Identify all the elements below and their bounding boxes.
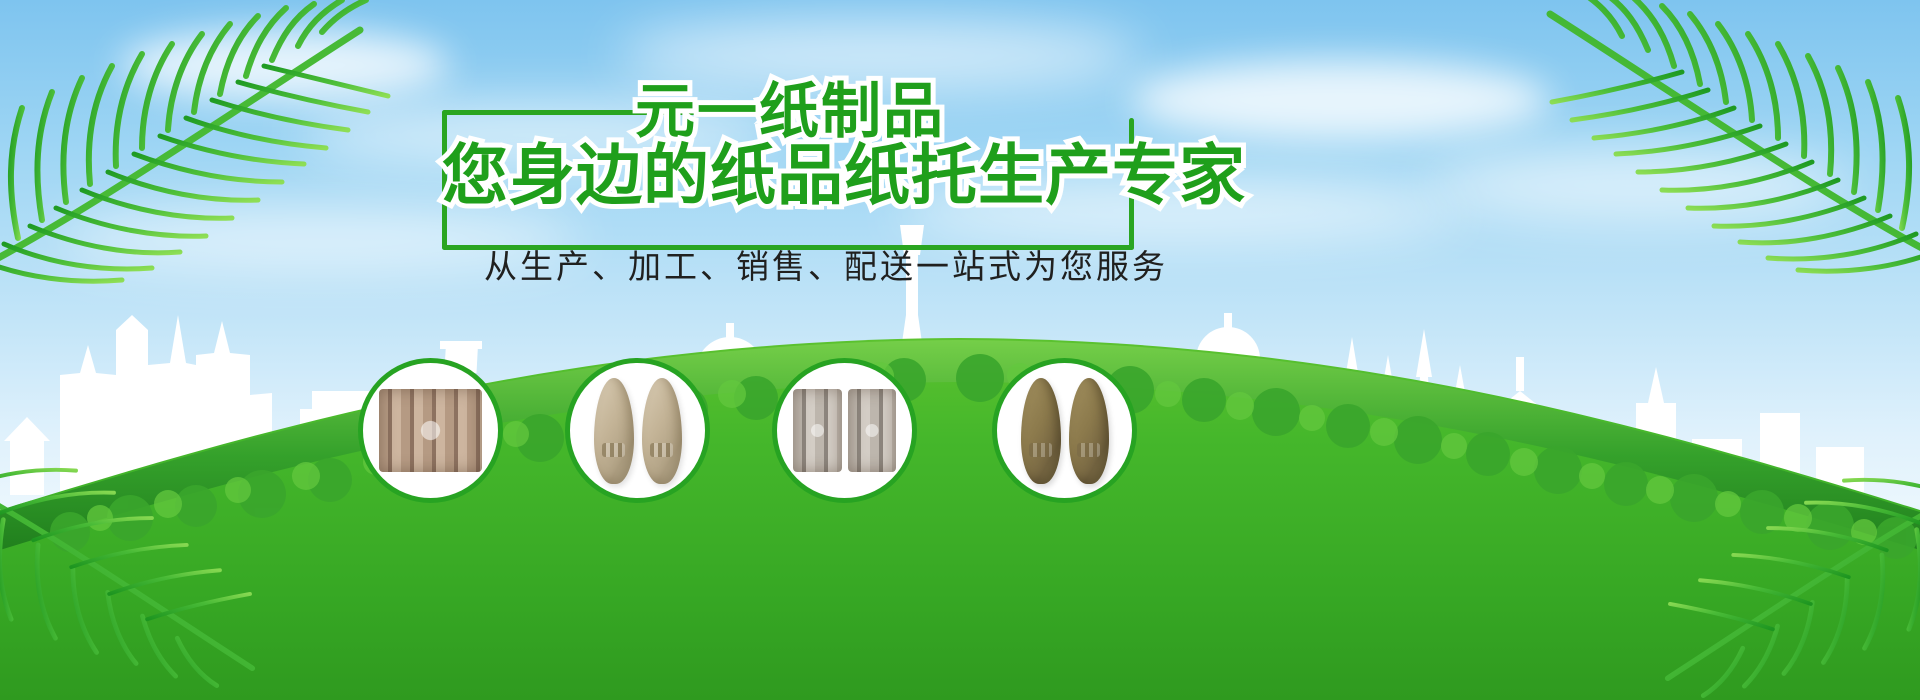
heel-mark bbox=[1077, 443, 1099, 457]
heel-mark bbox=[650, 443, 672, 457]
pulp-tray-texture bbox=[379, 389, 482, 473]
product-image-paper-pulp-square-tray bbox=[379, 389, 482, 473]
shoe-tree-pair bbox=[586, 389, 689, 473]
headline-line-1: 元一纸制品 bbox=[635, 80, 945, 144]
product-image-paper-pulp-shoe-trees bbox=[586, 389, 689, 473]
subtitle-text: 从生产、加工、销售、配送一站式为您服务 bbox=[484, 240, 1104, 288]
green-hill bbox=[0, 280, 1920, 700]
shoe-tree-left bbox=[594, 378, 634, 484]
heel-mark bbox=[602, 443, 624, 457]
pulp-tray-texture bbox=[848, 389, 896, 473]
insole-right bbox=[1069, 378, 1109, 484]
cloud-decoration bbox=[1130, 60, 1550, 140]
product-circle-paper-pulp-square-tray[interactable] bbox=[358, 358, 503, 503]
split-tray-pair bbox=[793, 389, 896, 473]
promotional-banner: 元一纸制品 您身边的纸品纸托生产专家 从生产、加工、销售、配送一站式为您服务 bbox=[0, 0, 1920, 700]
insole-left bbox=[1021, 378, 1061, 484]
insole-pair bbox=[1013, 389, 1116, 473]
product-circle-paper-pulp-shoe-trees[interactable] bbox=[565, 358, 710, 503]
product-image-paper-pulp-insoles bbox=[1013, 389, 1116, 473]
product-circle-paper-pulp-insoles[interactable] bbox=[992, 358, 1137, 503]
pulp-tray-texture bbox=[793, 389, 841, 473]
cloud-decoration bbox=[120, 30, 450, 100]
product-image-paper-pulp-split-tray bbox=[793, 389, 896, 473]
product-circle-paper-pulp-split-tray[interactable] bbox=[772, 358, 917, 503]
heel-mark bbox=[1029, 443, 1051, 457]
shoe-tree-right bbox=[642, 378, 682, 484]
headline-line-2: 您身边的纸品纸托生产专家 bbox=[442, 140, 1246, 210]
headline-block: 元一纸制品 您身边的纸品纸托生产专家 bbox=[430, 88, 1150, 233]
